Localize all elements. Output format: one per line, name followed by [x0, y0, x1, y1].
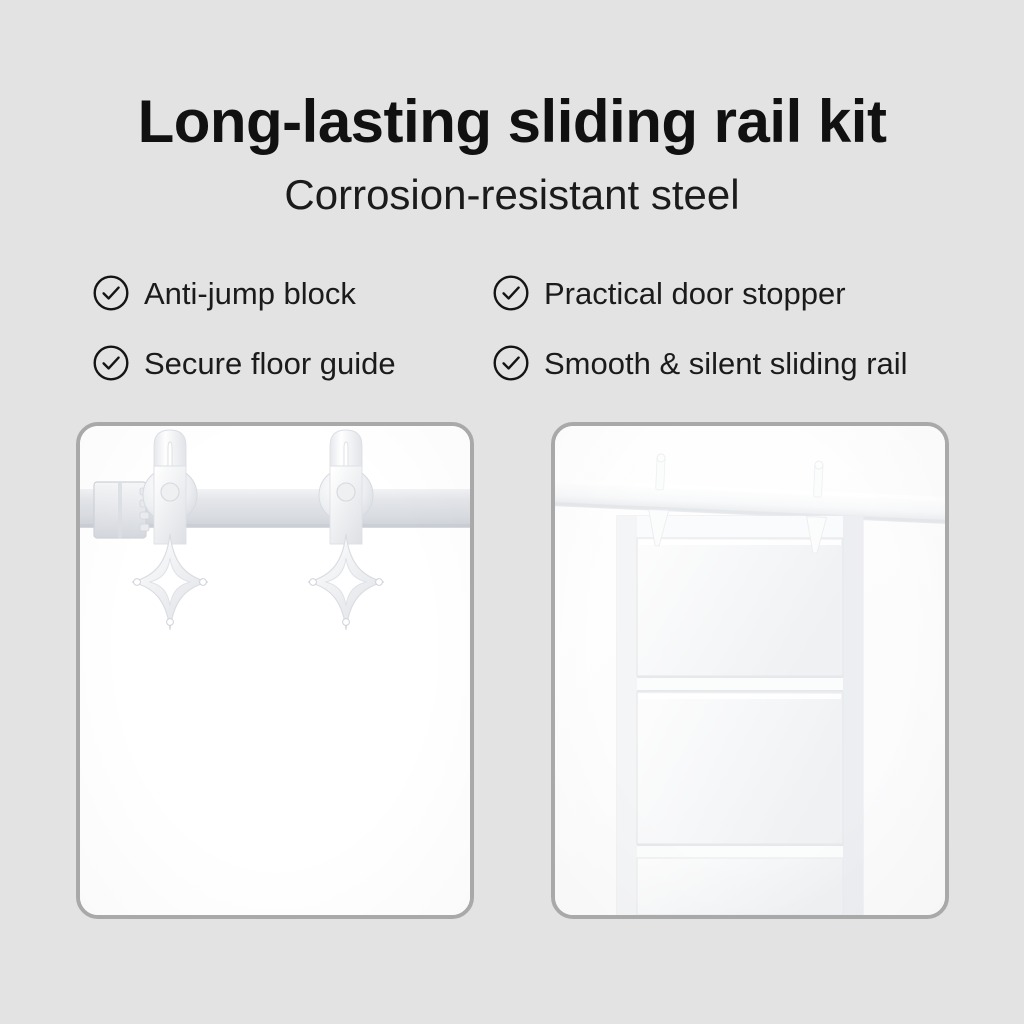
feature-item-anti-jump-block: Anti-jump block — [92, 274, 492, 312]
page-title: Long-lasting sliding rail kit — [0, 92, 1024, 152]
hardware-photo — [80, 426, 470, 915]
feature-label: Anti-jump block — [144, 278, 356, 309]
circle-check-icon — [492, 344, 530, 382]
feature-label: Practical door stopper — [544, 278, 846, 309]
installed-door-photo — [555, 426, 945, 915]
product-image-panel-hardware[interactable] — [76, 422, 474, 919]
roller-wheel — [657, 454, 665, 462]
feature-label: Smooth & silent sliding rail — [544, 348, 908, 379]
feature-item-secure-floor-guide: Secure floor guide — [92, 344, 492, 382]
page-subtitle: Corrosion-resistant steel — [0, 174, 1024, 216]
product-infographic: Long-lasting sliding rail kit Corrosion-… — [0, 0, 1024, 1024]
hanger-bolt — [161, 483, 179, 501]
feature-label: Secure floor guide — [144, 348, 396, 379]
roller-wheel — [815, 461, 823, 469]
feature-item-smooth-silent-sliding-rail: Smooth & silent sliding rail — [492, 344, 952, 382]
anti-jump-end-stop-block — [94, 482, 149, 538]
product-image-panel-installed-door[interactable] — [551, 422, 949, 919]
circle-check-icon — [92, 274, 130, 312]
circle-check-icon — [492, 274, 530, 312]
feature-list: Anti-jump block Practical door stopper S… — [92, 258, 952, 398]
feature-item-practical-door-stopper: Practical door stopper — [492, 274, 952, 312]
hanger-bolt — [337, 483, 355, 501]
circle-check-icon — [92, 344, 130, 382]
barn-door-slab — [617, 516, 863, 915]
